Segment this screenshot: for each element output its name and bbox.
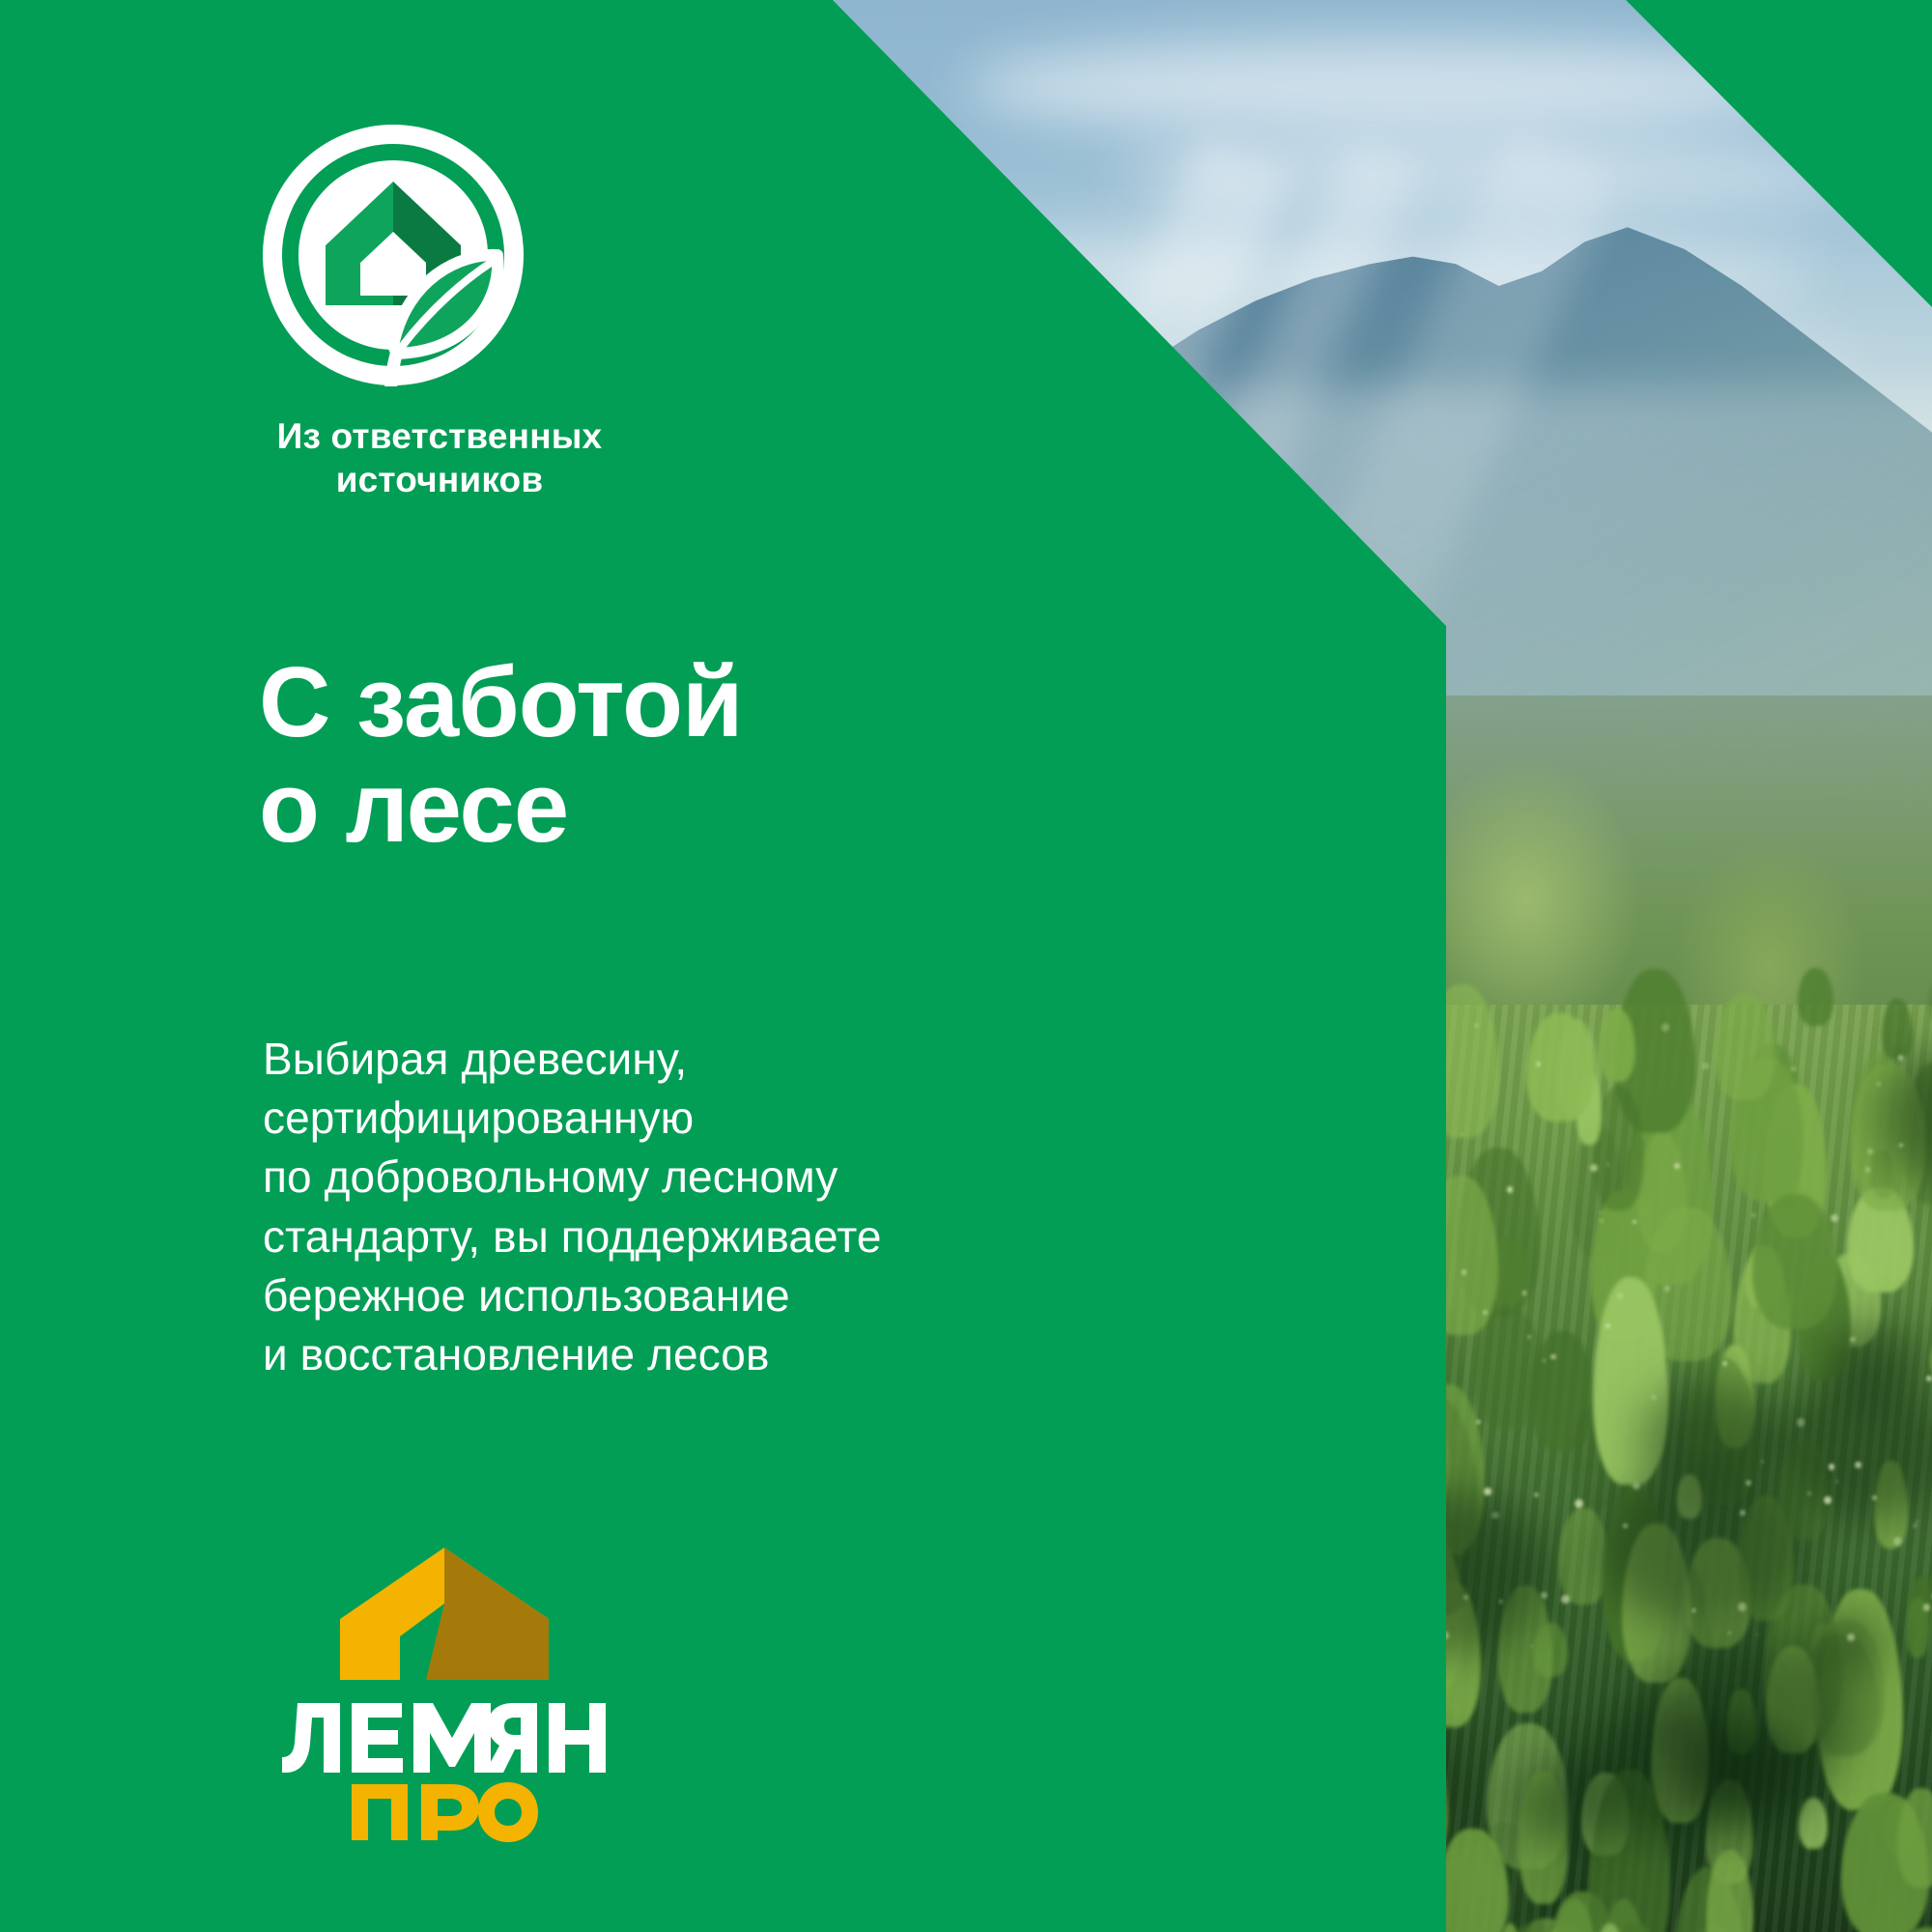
brand-suffix-pro: [348, 1782, 541, 1842]
brand-lockup: [261, 1544, 628, 1842]
responsible-sourcing-badge: Из ответственных источников: [246, 124, 633, 501]
poster-content: Из ответственных источников С заботой о …: [0, 0, 1932, 1932]
brand-name-lemana: [278, 1701, 611, 1773]
body-paragraph: Выбирая древесину, сертифицированную по …: [263, 1030, 882, 1384]
lemana-pro-house-logo-icon: [261, 1544, 628, 1684]
responsible-sourcing-caption: Из ответственных источников: [246, 414, 633, 501]
poster-canvas: Из ответственных источников С заботой о …: [0, 0, 1932, 1932]
page-title: С заботой о лесе: [259, 649, 742, 860]
responsible-sourcing-seal-icon: [262, 124, 525, 386]
